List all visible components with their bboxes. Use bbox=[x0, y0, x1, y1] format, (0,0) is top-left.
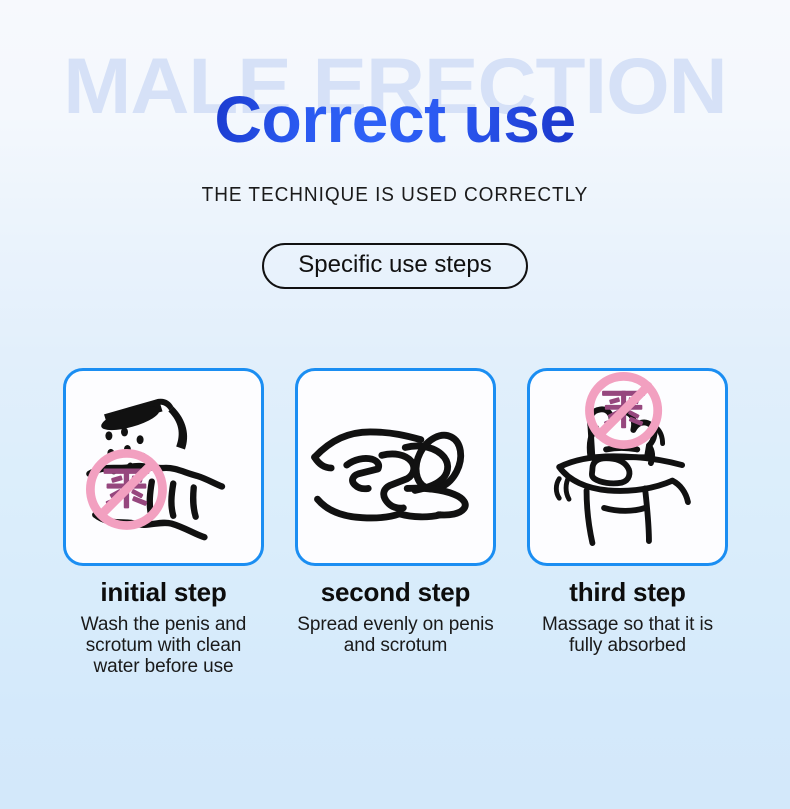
step-card-3: third step Massage so that it is fully a… bbox=[527, 368, 728, 678]
step-2-description: Spread evenly on penis and scrotum bbox=[295, 614, 496, 657]
page-subtitle: THE TECHNIQUE IS USED CORRECTLY bbox=[20, 184, 771, 207]
pill-badge-wrapper: Specific use steps bbox=[0, 243, 790, 289]
step-3-thumbnail bbox=[527, 368, 728, 566]
page-title: Correct use bbox=[0, 86, 790, 152]
specific-use-steps-badge: Specific use steps bbox=[262, 243, 527, 289]
step-2-thumbnail bbox=[295, 368, 496, 566]
step-3-title: third step bbox=[527, 578, 728, 608]
step-3-description: Massage so that it is fully absorbed bbox=[527, 614, 728, 657]
step-1-thumbnail bbox=[63, 368, 264, 566]
hand-spread-icon bbox=[315, 428, 470, 518]
step-card-1: initial step Wash the penis and scrotum … bbox=[63, 368, 264, 678]
steps-card-list: initial step Wash the penis and scrotum … bbox=[63, 368, 728, 678]
poster-page: MALE ERECTION Correct use THE TECHNIQUE … bbox=[0, 0, 790, 809]
step-2-title: second step bbox=[295, 578, 496, 608]
step-card-2: second step Spread evenly on penis and s… bbox=[295, 368, 496, 678]
step-1-description: Wash the penis and scrotum with clean wa… bbox=[63, 614, 264, 678]
hand-massage-icon bbox=[559, 409, 688, 543]
step-1-title: initial step bbox=[63, 578, 264, 608]
header-section: MALE ERECTION Correct use THE TECHNIQUE … bbox=[0, 0, 790, 300]
